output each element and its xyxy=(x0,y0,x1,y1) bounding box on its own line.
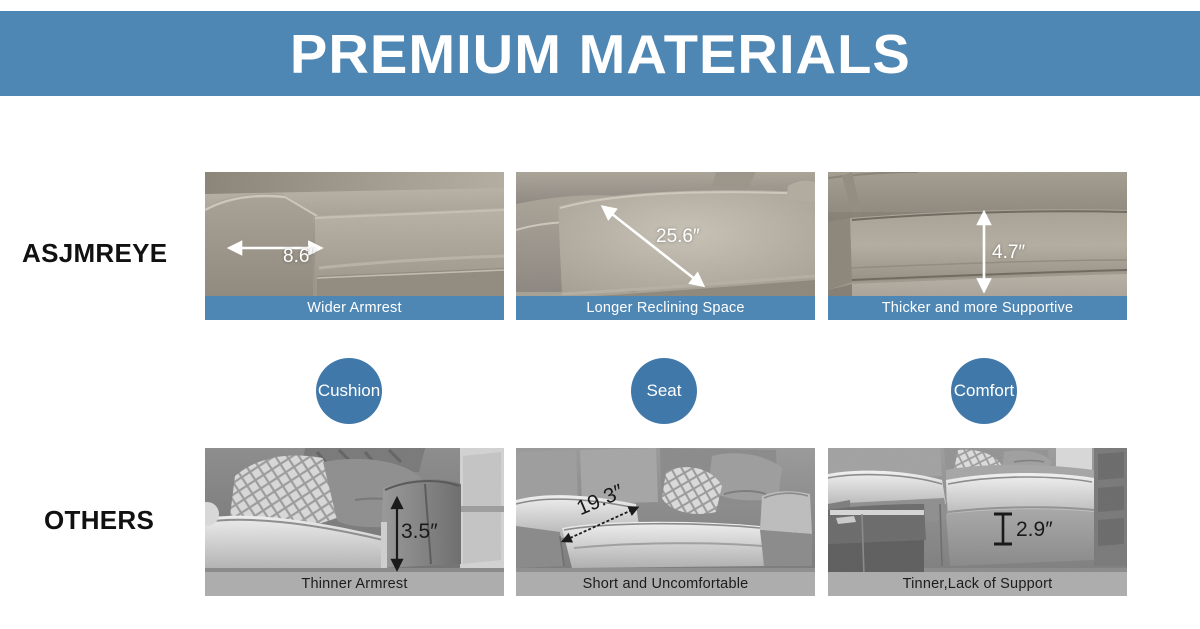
competitor-card-armrest[interactable]: 3.5″ Thinner Armrest xyxy=(205,448,504,596)
competitor-card-seat-caption: Short and Uncomfortable xyxy=(516,572,815,596)
badge-seat-label: Seat xyxy=(647,381,682,401)
brand-card-armrest-caption: Wider Armrest xyxy=(205,296,504,320)
page-header-banner: PREMIUM MATERIALS xyxy=(0,11,1200,96)
competitor-card-comfort-caption: Tinner,Lack of Support xyxy=(828,572,1127,596)
badge-seat[interactable]: Seat xyxy=(631,358,697,424)
competitor-card-armrest-caption: Thinner Armrest xyxy=(205,572,504,596)
brand-card-seat-caption: Longer Reclining Space xyxy=(516,296,815,320)
competitor-card-comfort[interactable]: 2.9″ Tinner,Lack of Support xyxy=(828,448,1127,596)
brand-card-seat[interactable]: 25.6″ Longer Reclining Space xyxy=(516,172,815,320)
badge-comfort[interactable]: Comfort xyxy=(951,358,1017,424)
badge-cushion-label: Cushion xyxy=(318,381,380,401)
brand-card-comfort[interactable]: 4.7″ Thicker and more Supportive xyxy=(828,172,1127,320)
brand-card-comfort-caption: Thicker and more Supportive xyxy=(828,296,1127,320)
brand-card-armrest[interactable]: 8.6″ Wider Armrest xyxy=(205,172,504,320)
brand-row-label: ASJMREYE xyxy=(22,238,167,269)
competitor-card-seat[interactable]: 19.3″ Short and Uncomfortable xyxy=(516,448,815,596)
competitor-row-label: OTHERS xyxy=(44,505,154,536)
badge-cushion[interactable]: Cushion xyxy=(316,358,382,424)
badge-comfort-label: Comfort xyxy=(954,381,1014,401)
page-title: PREMIUM MATERIALS xyxy=(290,22,911,86)
